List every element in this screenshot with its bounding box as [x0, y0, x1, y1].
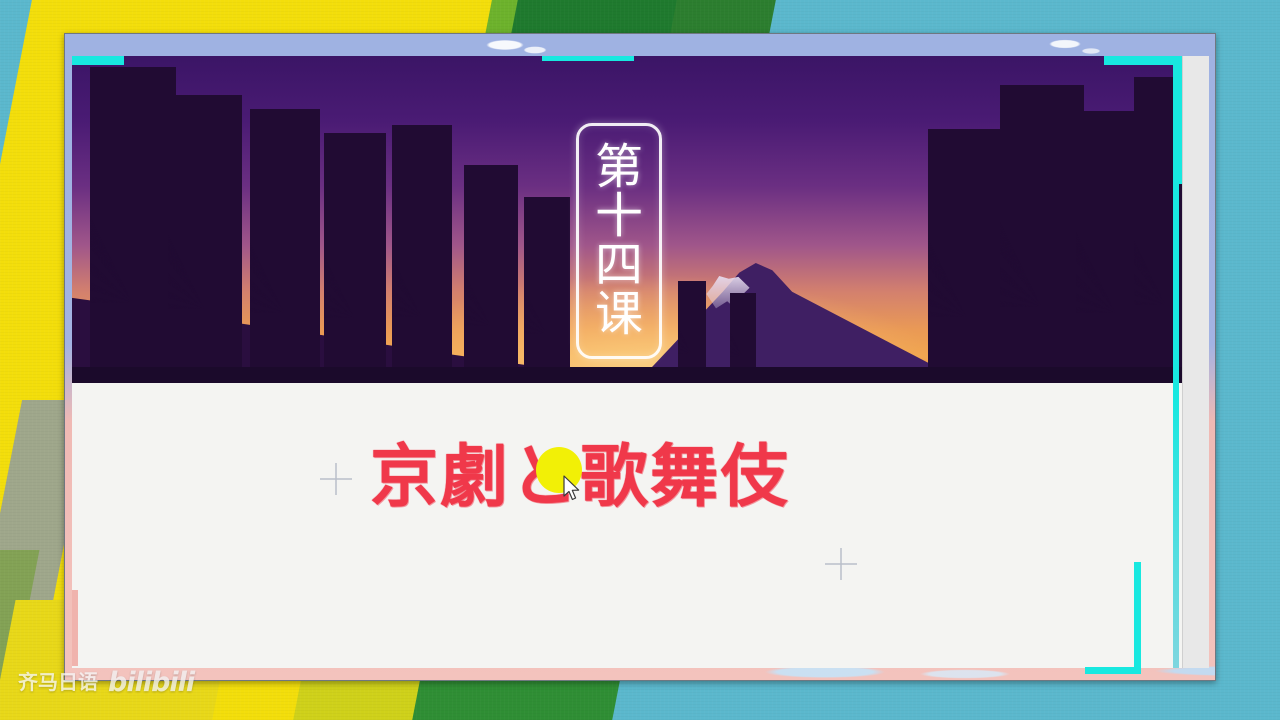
bare-tree-silhouette: [1000, 85, 1084, 377]
bare-tree-silhouette: [730, 293, 756, 377]
cyan-accent-line-top: [542, 56, 634, 61]
hero-ground-band: [72, 367, 1182, 383]
mouse-cursor-icon: [562, 475, 582, 503]
bare-tree-silhouette: [928, 129, 1006, 377]
slide-content-card: 第 十 四 课 京劇と歌舞伎: [72, 56, 1182, 668]
plus-decoration-icon: [320, 463, 352, 495]
watermark-channel-name: 齐马日语: [18, 666, 98, 695]
plus-decoration-icon: [825, 548, 857, 580]
corner-bracket-top-left-icon: [72, 56, 124, 65]
bare-tree-silhouette: [324, 133, 386, 377]
cyan-bottom-right-vertical-tick: [1134, 562, 1141, 674]
bare-tree-silhouette: [392, 125, 452, 377]
badge-char-2: 四: [595, 242, 643, 289]
pink-bottom-left-tick: [72, 590, 78, 666]
slide-window[interactable]: 第 十 四 课 京劇と歌舞伎: [64, 33, 1216, 681]
bare-tree-silhouette: [168, 95, 242, 377]
cyan-right-edge-line: [1173, 56, 1179, 668]
cyan-bottom-right-horizontal-tick: [1085, 667, 1141, 674]
bare-tree-silhouette: [678, 281, 706, 377]
badge-char-1: 十: [595, 193, 643, 240]
badge-char-0: 第: [595, 144, 643, 191]
bare-tree-silhouette: [250, 109, 320, 377]
badge-char-3: 课: [595, 291, 643, 338]
slide-right-margin-panel: [1182, 56, 1209, 668]
hero-image-mount-fuji: 第 十 四 课: [72, 56, 1182, 383]
bare-tree-silhouette: [524, 197, 570, 377]
corner-bracket-top-right-horizontal-icon: [1104, 56, 1182, 65]
watermark: 齐马日语 bilibili: [18, 664, 194, 695]
lesson-number-badge: 第 十 四 课: [576, 123, 662, 359]
bare-tree-silhouette: [464, 165, 518, 377]
watermark-platform-logo: bilibili: [108, 667, 194, 698]
slide-body: 京劇と歌舞伎: [72, 383, 1182, 668]
bare-tree-silhouette: [90, 67, 176, 377]
